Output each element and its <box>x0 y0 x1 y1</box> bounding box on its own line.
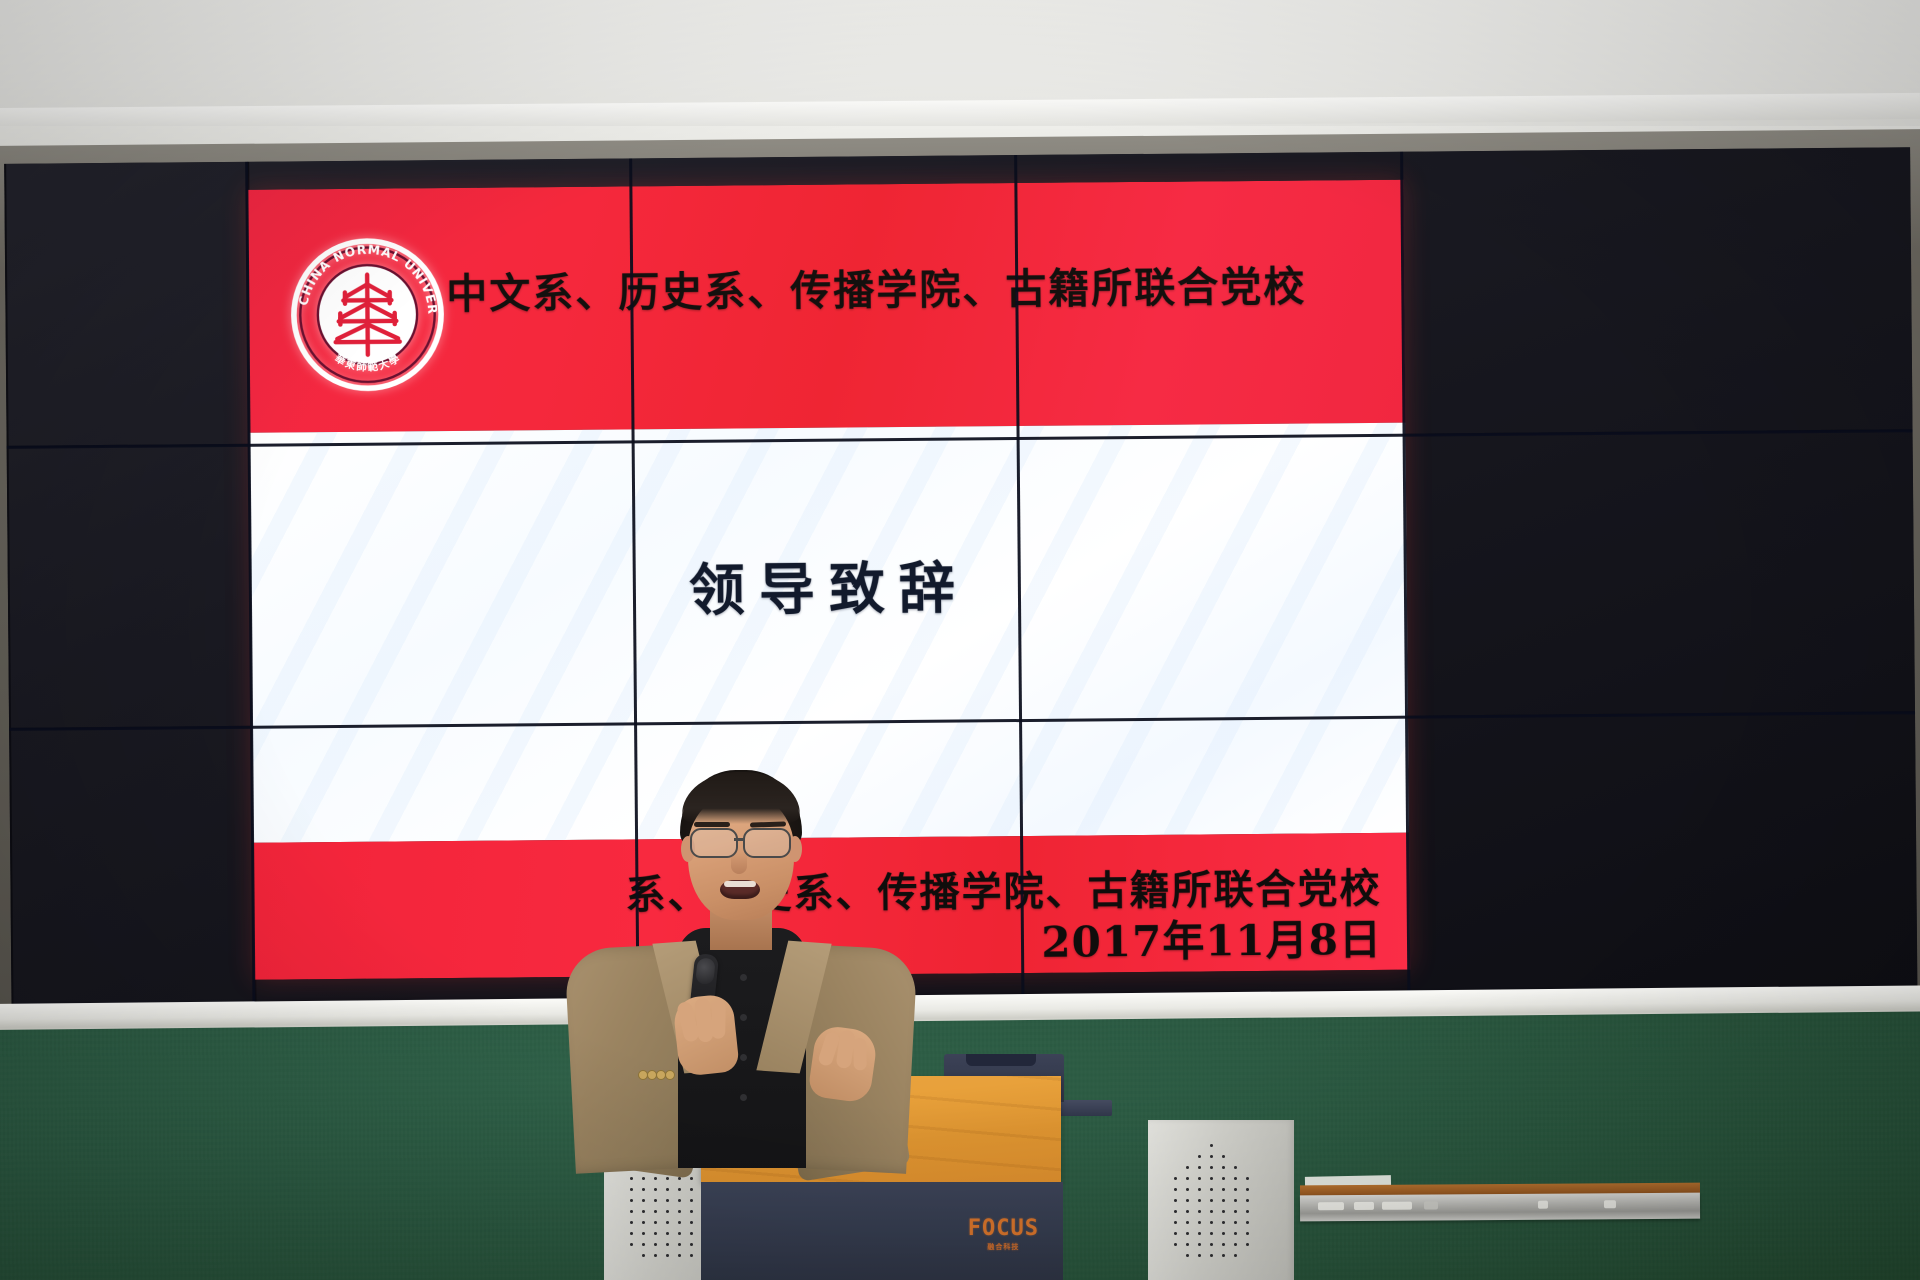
presenter-hair-front <box>682 772 800 824</box>
focus-brand-subtext: 融合科技 <box>968 1242 1039 1252</box>
focus-brand-logo: FOCUS 融合科技 <box>968 1216 1039 1252</box>
slide-center-heading: 领导致辞 <box>251 540 1408 631</box>
lecture-hall-photo: EAST CHINA NORMAL UNIVERSITY 華東師範大學 <box>0 0 1920 1280</box>
chalk-tray-rail[interactable] <box>1300 1193 1700 1222</box>
video-wall-screen[interactable]: EAST CHINA NORMAL UNIVERSITY 華東師範大學 <box>4 147 1917 1010</box>
presenter <box>560 770 920 1170</box>
presenter-eyebrow-left <box>694 822 730 827</box>
presenter-hand-left <box>672 993 740 1077</box>
speaker-grille-right <box>1174 1144 1266 1272</box>
lectern-right-panel <box>1148 1120 1294 1280</box>
video-wall-frame: EAST CHINA NORMAL UNIVERSITY 華東師範大學 <box>0 129 1920 1022</box>
ecnu-seal-icon: EAST CHINA NORMAL UNIVERSITY 華東師範大學 <box>283 234 452 395</box>
lectern-front-panel: FOCUS 融合科技 <box>701 1182 1063 1280</box>
jacket-cuff-buttons <box>638 1070 672 1079</box>
focus-brand-text: FOCUS <box>968 1216 1039 1241</box>
slide-title: 中文系、历史系、传播学院、古籍所联合党校 <box>446 252 1386 320</box>
eyeglasses-right-lens <box>743 828 791 858</box>
eyeglasses-bridge <box>734 838 744 841</box>
presenter-teeth <box>724 881 756 887</box>
presenter-nose <box>731 852 747 874</box>
